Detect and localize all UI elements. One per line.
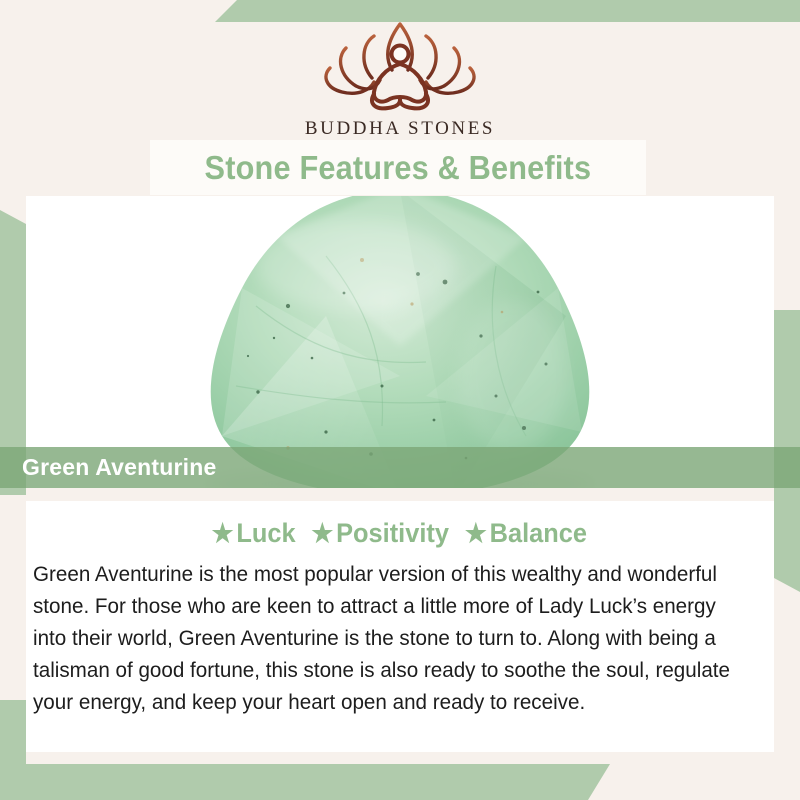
star-icon: ★: [211, 518, 233, 548]
page-title: Stone Features & Benefits: [205, 149, 592, 187]
keyword-item-luck: ★Luck: [211, 518, 295, 549]
brand-name: BUDDHA STONES: [0, 118, 800, 140]
stone-info-poster: BUDDHA STONES Stone Features & Benefits …: [0, 0, 800, 800]
stone-name-band: Green Aventurine: [0, 447, 800, 488]
star-icon: ★: [311, 518, 333, 548]
brand-logo: BUDDHA STONES: [0, 18, 800, 140]
keyword-list: ★Luck ★Positivity ★Balance: [0, 518, 800, 549]
panel-divider: [26, 488, 774, 501]
stone-photo-panel: [26, 196, 774, 488]
keyword-label: Balance: [490, 518, 587, 548]
keyword-item-balance: ★Balance: [465, 518, 587, 549]
decor-bottom-bar: [0, 764, 610, 800]
keyword-label: Luck: [236, 518, 295, 548]
keyword-label: Positivity: [336, 518, 449, 548]
stone-name: Green Aventurine: [22, 454, 217, 481]
stone-description: Green Aventurine is the most popular ver…: [33, 558, 738, 718]
stone-body: [176, 196, 626, 488]
lotus-meditation-icon: [312, 18, 488, 114]
stone-illustration: [26, 196, 774, 488]
stone-photo: [26, 196, 774, 488]
decor-left-lower-strip: [0, 700, 26, 764]
star-icon: ★: [465, 518, 487, 548]
keyword-item-positivity: ★Positivity: [311, 518, 449, 549]
title-banner: Stone Features & Benefits: [150, 140, 646, 195]
